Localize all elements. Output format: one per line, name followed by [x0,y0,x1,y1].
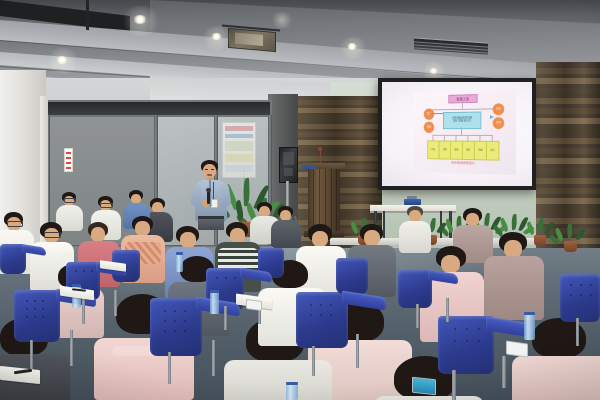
chair-back[interactable] [150,298,202,356]
slide-box-6-text: 执行 [490,149,494,152]
chair-leg [356,334,359,368]
slide-connector [462,101,463,109]
chair-back[interactable] [560,274,600,322]
slide-connector [432,108,492,110]
water-bottle[interactable] [286,384,298,400]
plant-pot [564,241,577,252]
pa-speaker [279,147,298,183]
av-device-top [407,196,417,199]
slide-box-6: 执行 [486,141,499,161]
partition-transom [48,102,270,115]
microphone-head [206,188,211,192]
slide-box-4: 团队 [462,141,475,160]
slide-box-3-text: 绩效 [454,149,458,151]
eyeglasses-icon [44,232,61,238]
chair-leg [446,298,449,322]
slide-circle-right-2: 管理 [493,117,505,129]
id-badge [211,199,218,208]
ceiling-downlight [211,33,222,40]
ceiling-downlight [429,68,438,74]
ceiling-downlight [133,15,147,24]
presenter-eye [205,169,208,170]
chair-leg [452,370,456,400]
slide-box-1-text: 目标 [431,149,435,151]
lanyard-strap [213,182,214,199]
chair-leg [82,298,85,324]
presenter-mouth [207,174,212,176]
chair-leg [212,340,215,376]
chair-leg [502,356,506,388]
ceiling-reveal [86,0,89,30]
eyeglasses-icon [64,198,76,203]
podium-body [308,169,340,231]
water-bottle[interactable] [210,292,219,314]
slide-box-5: 沟通 [474,141,487,161]
slide-footer-text: 提升组织和团队能力 [436,160,491,165]
eyeglasses-icon [7,221,23,227]
presenter-eye [211,169,214,170]
chair-leg [416,304,419,328]
slide-circle-left-2: 管理 [424,122,434,133]
chair-leg [70,330,73,366]
projection-screen: 管理之道 管理 管理 管理 管理 计划 组织协调 控制 领导 [382,82,532,186]
ceiling-access-panel [228,28,276,52]
blue-av-device [404,199,421,205]
slide-title-box: 管理之道 [448,94,477,103]
slide-box-2-text: 流程 [443,149,447,151]
presenter [190,160,232,230]
slide-connector [432,135,492,136]
smartphone-screen-on[interactable] [412,377,436,396]
presenter-face [203,164,216,178]
eyeglasses-icon [100,203,113,208]
chair-back[interactable] [398,270,432,308]
smartphone[interactable] [506,340,528,357]
podium-device [302,166,316,169]
podium-microphone-head [318,147,322,151]
handheld-microphone [207,191,210,204]
chair-leg [114,290,117,316]
slide-connector [461,127,462,135]
smartphone[interactable] [246,299,262,311]
podium-microphone-stem [320,150,321,164]
slide-circle-right-2-text: 管理 [496,122,501,125]
slide-circle-right-1: 管理 [493,103,505,115]
ceiling-downlight [347,43,357,50]
chair-leg [312,346,315,376]
chair-back[interactable] [336,258,368,294]
mouse-pointer-icon [490,115,494,119]
projected-slide: 管理之道 管理 管理 管理 管理 计划 组织协调 控制 领导 [414,89,516,175]
slide-box-5-text: 沟通 [478,149,482,152]
chair-back[interactable] [14,290,60,342]
slide-center-line-2: 领导 决策 执行力 [453,120,471,123]
water-bottle[interactable] [176,254,183,272]
chair-back[interactable] [296,292,348,348]
ceiling-downlight [56,56,68,64]
front-table-leg [383,211,385,238]
chair-leg [168,352,171,384]
presenter-belt [198,216,224,219]
plant-pot [534,235,546,246]
chair-leg [576,318,579,346]
slide-circle-right-1-text: 管理 [496,108,501,111]
water-bottle[interactable] [524,314,535,340]
wall-notice-sign [64,148,73,172]
slide-center-box: 计划 组织协调 控制 领导 决策 执行力 [443,112,481,130]
seminar-room-photo: 管理之道 管理 管理 管理 管理 计划 组织协调 控制 领导 [0,0,600,400]
slide-circle-left-2-text: 管理 [427,126,431,128]
slide-title-text: 管理之道 [456,96,469,101]
slide-box-4-text: 团队 [466,149,470,151]
downlight-glow [270,12,294,28]
chair-leg [224,306,227,330]
presenter-trousers [198,218,224,230]
